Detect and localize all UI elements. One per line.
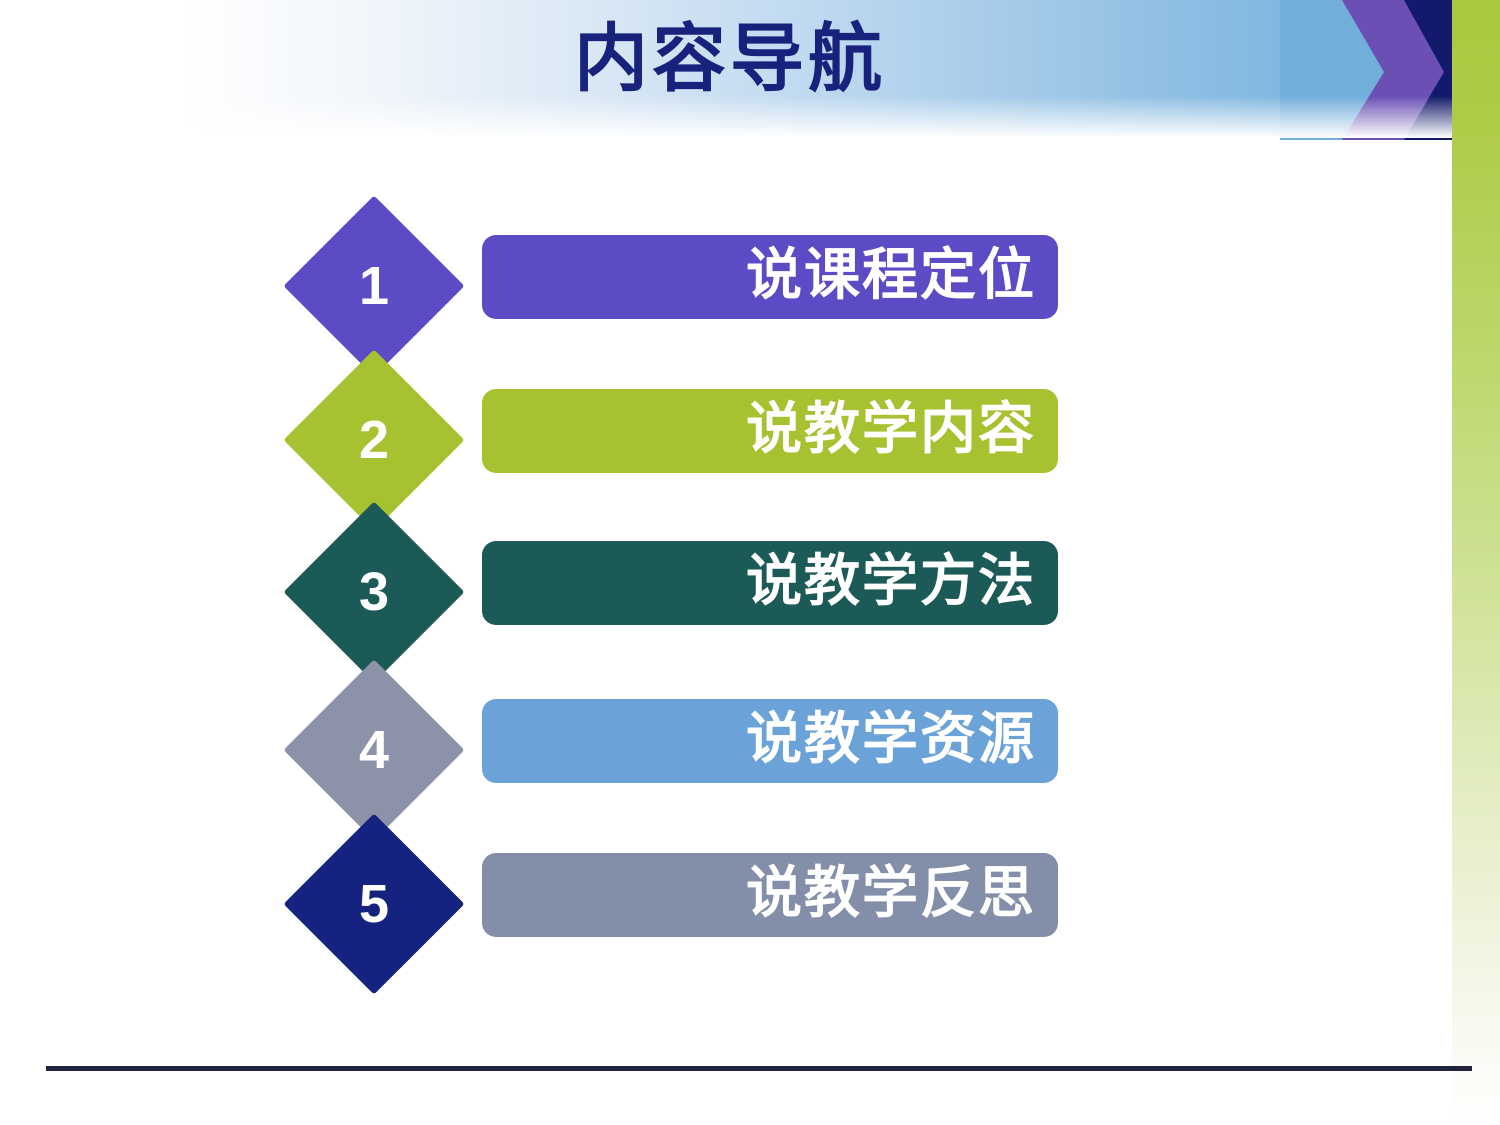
bottom-divider [46,1066,1472,1071]
nav-item-bar-5[interactable]: 说教学反思 [482,853,1058,937]
nav-item-number-5: 5 [310,840,438,968]
nav-item-label-5: 说教学反思 [746,865,1058,921]
nav-item-2[interactable]: 2 说教学内容 [0,376,1100,526]
nav-item-5[interactable]: 5 说教学反思 [0,840,1100,990]
nav-item-1[interactable]: 1 说课程定位 [0,222,1100,372]
nav-item-label-4: 说教学资源 [746,711,1058,767]
nav-item-label-3: 说教学方法 [746,553,1058,609]
nav-item-label-2: 说教学内容 [746,401,1058,457]
nav-item-bar-1[interactable]: 说课程定位 [482,235,1058,319]
nav-item-label-1: 说课程定位 [746,247,1058,303]
nav-item-number-3: 3 [310,528,438,656]
nav-item-number-2: 2 [310,376,438,504]
nav-item-bar-2[interactable]: 说教学内容 [482,389,1058,473]
slide-canvas: 内容导航 1 说课程定位 2 说教学内容 3 说教学方法 4 [0,0,1500,1125]
nav-item-3[interactable]: 3 说教学方法 [0,528,1100,678]
nav-item-number-4: 4 [310,686,438,814]
nav-item-bar-4[interactable]: 说教学资源 [482,699,1058,783]
nav-item-bar-3[interactable]: 说教学方法 [482,541,1058,625]
nav-item-4[interactable]: 4 说教学资源 [0,686,1100,836]
nav-list: 1 说课程定位 2 说教学内容 3 说教学方法 4 说教学资源 [0,0,1500,1125]
nav-item-number-1: 1 [310,222,438,350]
